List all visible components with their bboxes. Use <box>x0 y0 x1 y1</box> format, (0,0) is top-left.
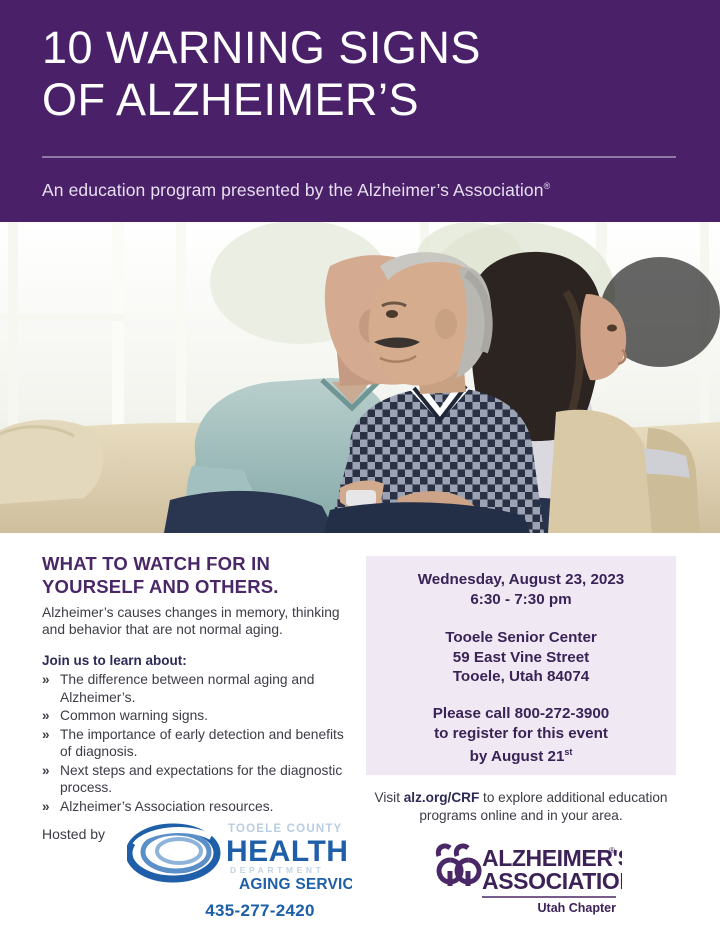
header-divider <box>42 156 676 158</box>
tooele-county-text: TOOELE COUNTY <box>228 823 342 835</box>
section-heading-line2: YOURSELF AND OTHERS. <box>42 575 347 598</box>
visit-website-note: Visit alz.org/CRF to explore additional … <box>370 789 672 824</box>
list-item-label: Alzheimer’s Association resources. <box>60 799 273 814</box>
event-registration: Please call 800-272-3900 to register for… <box>366 704 676 767</box>
registration-deadline-text: by August 21 <box>470 748 565 765</box>
visit-link[interactable]: alz.org/CRF <box>404 790 480 805</box>
host-phone: 435-277-2420 <box>170 901 350 921</box>
registration-instruction: to register for this event <box>366 724 676 744</box>
hero-photo-illustration <box>0 222 720 533</box>
section-heading: WHAT TO WATCH FOR IN YOURSELF AND OTHERS… <box>42 552 347 598</box>
registration-phone-line: Please call 800-272-3900 <box>366 704 676 724</box>
swirl-icon <box>129 827 217 879</box>
page-title-line1: 10 WARNING SIGNS <box>42 22 481 73</box>
logo-registered-mark: ® <box>609 846 615 855</box>
event-street: 59 East Vine Street <box>366 648 676 668</box>
double-chevron-icon: » <box>42 798 50 816</box>
learn-about-list: »The difference between normal aging and… <box>42 671 347 815</box>
logo-line2: ASSOCIATION <box>482 868 622 894</box>
registration-deadline: by August 21st <box>366 743 676 767</box>
list-item-label: Next steps and expectations for the diag… <box>60 763 342 796</box>
event-datetime: Wednesday, August 23, 2023 6:30 - 7:30 p… <box>366 570 676 609</box>
event-city-state-zip: Tooele, Utah 84074 <box>366 667 676 687</box>
header-subtitle-text: An education program presented by the Al… <box>42 180 544 200</box>
list-item: »The difference between normal aging and… <box>42 671 347 706</box>
ordinal-suffix: st <box>564 747 572 757</box>
left-column: WHAT TO WATCH FOR IN YOURSELF AND OTHERS… <box>42 552 347 919</box>
event-location: Tooele Senior Center 59 East Vine Street… <box>366 628 676 687</box>
hosted-by-row: Hosted by TOOELE COUNTY HEALTH DEPARTMEN… <box>42 823 347 919</box>
hero-photo <box>0 222 720 533</box>
header-subtitle: An education program presented by the Al… <box>42 175 682 201</box>
flyer: 10 WARNING SIGNS OF ALZHEIMER’S An educa… <box>0 0 720 931</box>
list-item: »Next steps and expectations for the dia… <box>42 762 347 797</box>
double-chevron-icon: » <box>42 762 50 780</box>
list-item-label: The importance of early detection and be… <box>60 727 344 760</box>
alz-symbol-icon <box>438 846 479 886</box>
learn-about-label: Join us to learn about: <box>42 652 347 669</box>
health-text: HEALTH <box>226 835 348 868</box>
list-item: »Alzheimer’s Association resources. <box>42 798 347 816</box>
event-date: Wednesday, August 23, 2023 <box>366 570 676 590</box>
page-title-line2: OF ALZHEIMER’S <box>42 74 682 126</box>
event-venue: Tooele Senior Center <box>366 628 676 648</box>
alzheimers-association-logo: ALZHEIMER'S ® ASSOCIATION Utah Chapter <box>432 840 622 916</box>
tooele-health-logo-mark: TOOELE COUNTY HEALTH DEPARTMENT AGING SE… <box>127 819 352 899</box>
department-text: DEPARTMENT <box>230 865 324 875</box>
double-chevron-icon: » <box>42 671 50 689</box>
hosted-by-label: Hosted by <box>42 825 105 843</box>
section-heading-line1: WHAT TO WATCH FOR IN <box>42 552 347 575</box>
alzheimers-logo-mark: ALZHEIMER'S ® ASSOCIATION Utah Chapter <box>432 840 622 916</box>
double-chevron-icon: » <box>42 707 50 725</box>
list-item: »The importance of early detection and b… <box>42 726 347 761</box>
event-details-panel: Wednesday, August 23, 2023 6:30 - 7:30 p… <box>366 556 676 775</box>
lead-paragraph: Alzheimer’s causes changes in memory, th… <box>42 604 347 638</box>
list-item-label: Common warning signs. <box>60 708 208 723</box>
visit-prefix: Visit <box>375 790 404 805</box>
logo-chapter: Utah Chapter <box>538 901 617 915</box>
event-time: 6:30 - 7:30 pm <box>366 590 676 610</box>
aging-services-text: AGING SERVICES <box>239 876 352 893</box>
header-band: 10 WARNING SIGNS OF ALZHEIMER’S An educa… <box>0 0 720 222</box>
registered-mark: ® <box>544 181 551 191</box>
double-chevron-icon: » <box>42 726 50 744</box>
page-title: 10 WARNING SIGNS OF ALZHEIMER’S <box>42 22 682 126</box>
list-item-label: The difference between normal aging and … <box>60 672 314 705</box>
list-item: »Common warning signs. <box>42 707 347 725</box>
